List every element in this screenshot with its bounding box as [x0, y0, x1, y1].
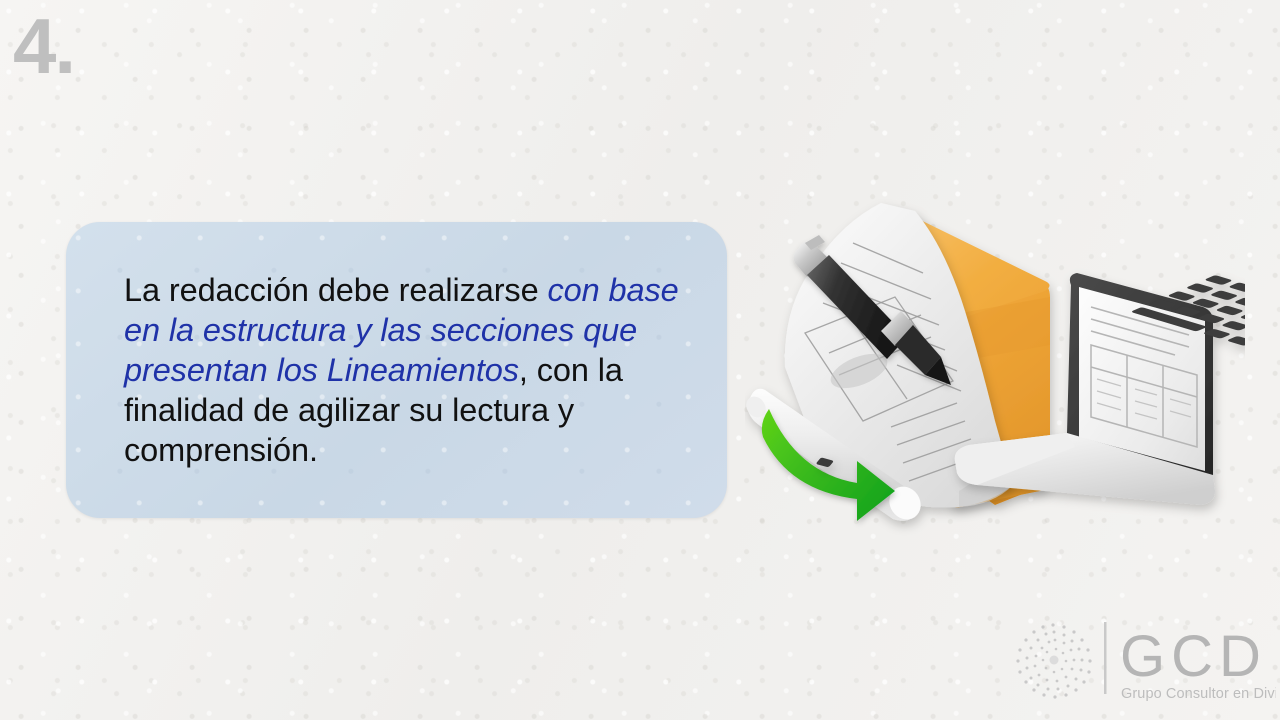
- logo-wordmark: GCD: [1120, 624, 1267, 689]
- card-paragraph: La redacción debe realizarse con base en…: [124, 270, 694, 470]
- illustration-group: [745, 185, 1245, 565]
- slide-canvas: 4. La redacción debe realizarse con base…: [0, 0, 1280, 720]
- logo-tagline: Grupo Consultor en Divisas: [1121, 686, 1276, 702]
- card-text-plain-leading: La redacción debe realizarse: [124, 272, 547, 308]
- slide-number: 4.: [13, 7, 74, 85]
- logo-divider: [1104, 622, 1107, 694]
- text-callout-card: La redacción debe realizarse con base en…: [66, 222, 727, 518]
- brand-logo: GCD Grupo Consultor en Divisas: [1008, 618, 1276, 714]
- dotted-spiral-mark: [1016, 623, 1091, 698]
